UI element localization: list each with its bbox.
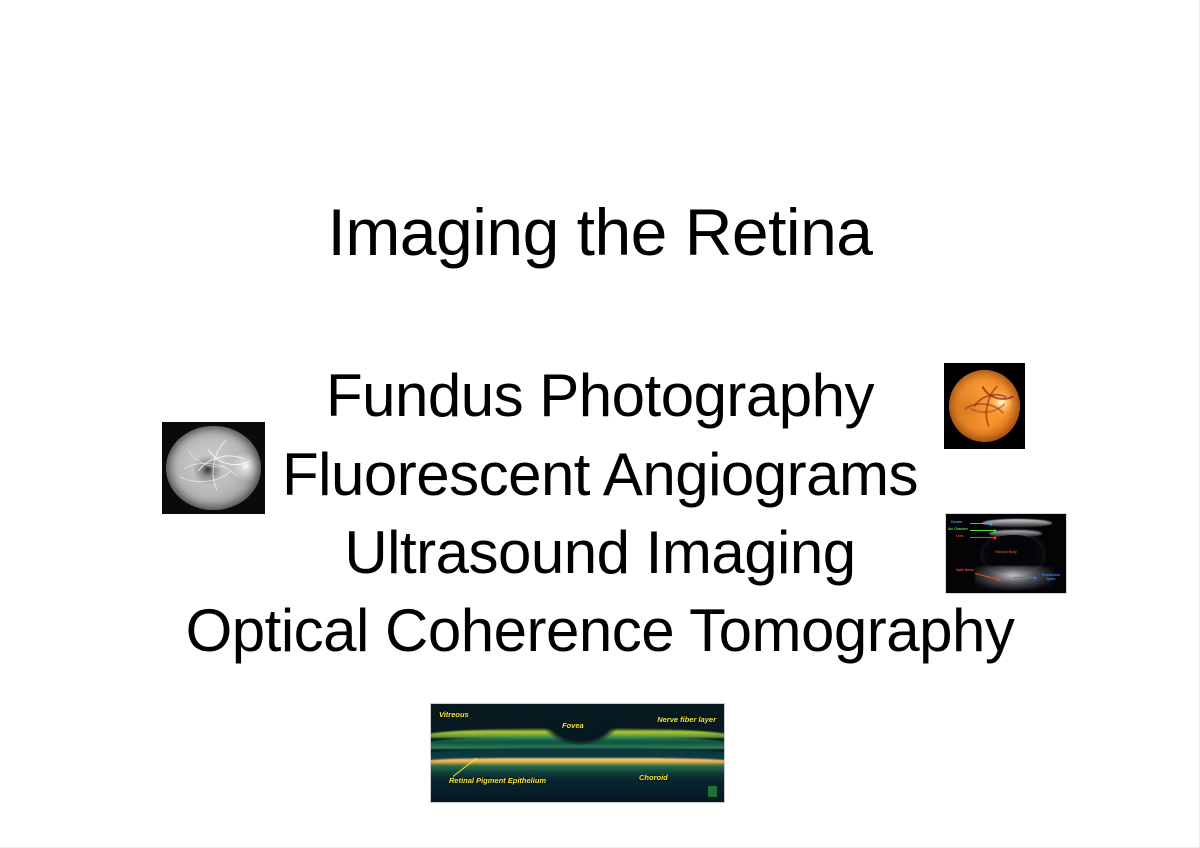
fundus-vessel — [952, 400, 1012, 449]
oct-label-choroid: Choroid — [639, 773, 668, 782]
fundus-vessel — [959, 374, 1012, 416]
oct-label-nerve-fiber-layer: Nerve fiber layer — [657, 715, 716, 724]
angiogram-vessel — [179, 422, 244, 476]
oct-scale-marker — [708, 786, 717, 797]
ocular-ultrasound-image: Cornea Ant Chamber Lens Vitreous Body Op… — [945, 513, 1067, 594]
oct-label-retinal-pigment-epithelium: Retinal Pigment Epithelium — [449, 776, 546, 785]
presentation-slide: Imaging the Retina Fundus Photography Fl… — [0, 0, 1200, 848]
fundus-photograph-image — [944, 363, 1025, 449]
fundus-retina-disc — [949, 370, 1020, 442]
ultrasound-label-optic-nerve: Optic Nerve — [956, 569, 974, 573]
fundus-vessel — [965, 389, 1023, 442]
angiogram-vessel — [197, 422, 265, 472]
ultrasound-arrow-lens — [970, 537, 996, 538]
ultrasound-label-retrobulbar-space: Retrobulbar Space — [1038, 574, 1064, 581]
oct-label-fovea: Fovea — [562, 721, 584, 730]
ultrasound-arrow-cornea — [970, 523, 992, 524]
fluorescein-angiogram-image — [162, 422, 265, 514]
angiogram-vessel — [187, 449, 262, 514]
ultrasound-arrow-ant-chamber — [970, 530, 996, 531]
angiogram-vessel — [168, 434, 241, 485]
angiogram-vessel — [168, 458, 247, 514]
bullet-line-optical-coherence-tomography: Optical Coherence Tomography — [0, 599, 1200, 663]
ultrasound-label-vitreous-body: Vitreous Body — [993, 551, 1019, 555]
ultrasound-scan-field: Cornea Ant Chamber Lens Vitreous Body Op… — [946, 514, 1066, 593]
angiogram-retina-disc — [166, 426, 261, 511]
fundus-vessel — [972, 363, 1025, 406]
oct-bscan-image: Vitreous Fovea Nerve fiber layer Retinal… — [430, 703, 725, 803]
ultrasound-label-lens: Lens — [956, 535, 963, 539]
page-title: Imaging the Retina — [0, 196, 1200, 268]
ultrasound-arrow-retrobulbar-space — [1014, 577, 1036, 578]
ultrasound-label-ant-chamber: Ant Chamber — [948, 528, 968, 532]
oct-label-vitreous: Vitreous — [439, 710, 469, 719]
ultrasound-label-cornea: Cornea — [951, 521, 962, 525]
oct-scan-field: Vitreous Fovea Nerve fiber layer Retinal… — [431, 704, 724, 802]
